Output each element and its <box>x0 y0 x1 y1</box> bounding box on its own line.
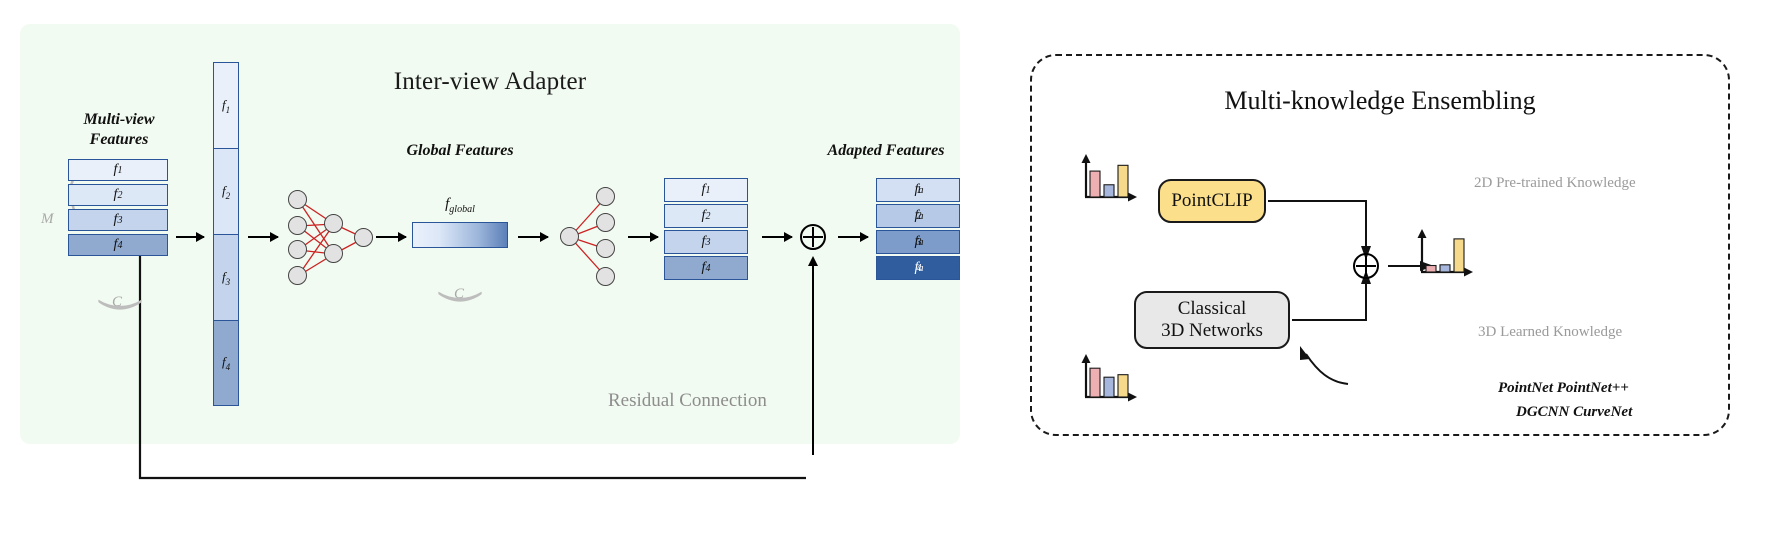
concat-segment-label: f2 <box>214 183 238 201</box>
adapted-feature-row-label: fa1 <box>877 179 959 201</box>
global-feature-bar <box>412 222 508 248</box>
multi-view-feature-row: f2 <box>68 184 168 206</box>
mlp-node <box>354 228 373 247</box>
f-global-subscript: global <box>449 204 475 215</box>
concat-segment: f2 <box>213 148 239 234</box>
multi-view-feature-row: f4 <box>68 234 168 256</box>
concatenated-feature-bar: f1f2f3f4 <box>213 62 239 406</box>
mlp-node <box>288 190 307 209</box>
decoded-feature-stack: f1f2f3f4 <box>664 178 748 282</box>
mlp-node <box>596 267 615 286</box>
multi-view-features-label: Multi-view Features <box>56 110 182 150</box>
decoded-feature-row: f4 <box>664 256 748 280</box>
arrow-decoder-to-midstack <box>628 236 658 238</box>
adapted-feature-row: fa1 <box>876 178 960 202</box>
arrow-residual-into-sum <box>812 265 814 455</box>
adapted-feature-row-label: fa3 <box>877 231 959 253</box>
mlp-node <box>596 239 615 258</box>
histogram-ensembled-output <box>1412 228 1474 280</box>
multi-view-label-line1: Multi-view <box>56 110 182 130</box>
decoded-feature-row-label: f3 <box>665 231 747 253</box>
histogram-bar <box>1426 266 1436 272</box>
decoded-feature-row: f2 <box>664 204 748 228</box>
adapted-feature-row: fa2 <box>876 204 960 228</box>
concat-segment-label: f3 <box>214 269 238 287</box>
pointclip-box[interactable]: PointCLIP <box>1158 179 1266 223</box>
multi-view-feature-row: f1 <box>68 159 168 181</box>
mlp-node <box>596 213 615 232</box>
knowledge-sum-operator <box>1353 253 1379 279</box>
multi-view-feature-label: f1 <box>69 160 167 180</box>
classical-3d-label: Classical 3D Networks <box>1161 298 1263 342</box>
residual-sum-operator <box>800 224 826 250</box>
mlp-encoder-graph <box>284 188 376 286</box>
decoded-feature-row: f3 <box>664 230 748 254</box>
adapted-feature-stack: fa1fa2fa3fa4 <box>876 178 960 282</box>
multi-view-feature-row: f3 <box>68 209 168 231</box>
multi-view-label-line2: Features <box>56 130 182 150</box>
arrow-midstack-to-sum <box>762 236 792 238</box>
multi-view-feature-label: f3 <box>69 210 167 230</box>
mlp-node <box>324 214 343 233</box>
histogram-bar <box>1090 171 1100 197</box>
classical-3d-line2: 3D Networks <box>1161 320 1263 341</box>
pointclip-input-histogram-svg <box>1076 153 1138 205</box>
c-dimension-label-input: C <box>112 294 122 311</box>
concat-segment-label: f4 <box>214 354 238 372</box>
histogram-bar <box>1104 185 1114 197</box>
ensembled-output-histogram-svg <box>1412 228 1474 280</box>
decoded-feature-row-label: f2 <box>665 205 747 227</box>
diagram-canvas: Inter-view Adapter Multi-view Features {… <box>0 0 1766 550</box>
adapted-feature-row: fa3 <box>876 230 960 254</box>
mlp-node <box>288 240 307 259</box>
knowledge-3d-label: 3D Learned Knowledge <box>1478 324 1622 341</box>
multi-view-feature-label: f4 <box>69 235 167 255</box>
decoded-feature-row-label: f1 <box>665 179 747 201</box>
arrow-stack-to-concat <box>176 236 204 238</box>
adapted-features-label: Adapted Features <box>798 141 974 161</box>
concat-segment: f4 <box>213 320 239 406</box>
arrow-global-to-decoder <box>518 236 548 238</box>
adapted-feature-row-label: fa4 <box>877 257 959 279</box>
decoded-feature-row-label: f4 <box>665 257 747 279</box>
mlp-node <box>596 187 615 206</box>
mlp-node <box>324 244 343 263</box>
residual-connection-label: Residual Connection <box>608 390 767 412</box>
adapted-feature-row: fa4 <box>876 256 960 280</box>
global-features-label: Global Features <box>378 141 542 161</box>
network-list-line1: PointNet PointNet++ <box>1498 376 1632 400</box>
histogram-bar <box>1118 165 1128 197</box>
histogram-bar <box>1440 265 1450 272</box>
mlp-node <box>560 227 579 246</box>
concat-segment: f3 <box>213 234 239 320</box>
multi-view-feature-stack: f1f2f3f4 <box>68 159 168 259</box>
adapted-feature-row-label: fa2 <box>877 205 959 227</box>
c-dimension-label-global: C <box>454 286 464 303</box>
histogram-bar <box>1090 368 1100 397</box>
decoded-feature-row: f1 <box>664 178 748 202</box>
f-global-symbol: fglobal <box>412 196 508 215</box>
network-list-line2: DGCNN CurveNet <box>1498 400 1632 424</box>
mlp-decoder-graph <box>556 185 622 289</box>
histogram-bar <box>1454 239 1464 272</box>
mlp-node <box>288 266 307 285</box>
m-dimension-label: M <box>41 211 54 228</box>
knowledge-2d-label: 2D Pre-trained Knowledge <box>1474 175 1636 192</box>
classical-3d-networks-box[interactable]: Classical 3D Networks <box>1134 291 1290 349</box>
histogram-classical3d-input <box>1076 353 1138 405</box>
histogram-bar <box>1118 375 1128 397</box>
network-list: PointNet PointNet++ DGCNN CurveNet <box>1498 376 1632 424</box>
multi-view-feature-label: f2 <box>69 185 167 205</box>
histogram-bar <box>1104 377 1114 397</box>
concat-segment: f1 <box>213 62 239 148</box>
classical3d-input-histogram-svg <box>1076 353 1138 405</box>
histogram-pointclip-input <box>1076 153 1138 205</box>
arrow-mlp-to-global <box>376 236 406 238</box>
mlp-node <box>288 216 307 235</box>
concat-segment-label: f1 <box>214 97 238 115</box>
pointclip-label: PointCLIP <box>1171 190 1252 212</box>
arrow-sum-to-adapted <box>838 236 868 238</box>
arrow-concat-to-mlp <box>248 236 278 238</box>
classical-3d-line1: Classical <box>1178 298 1247 319</box>
